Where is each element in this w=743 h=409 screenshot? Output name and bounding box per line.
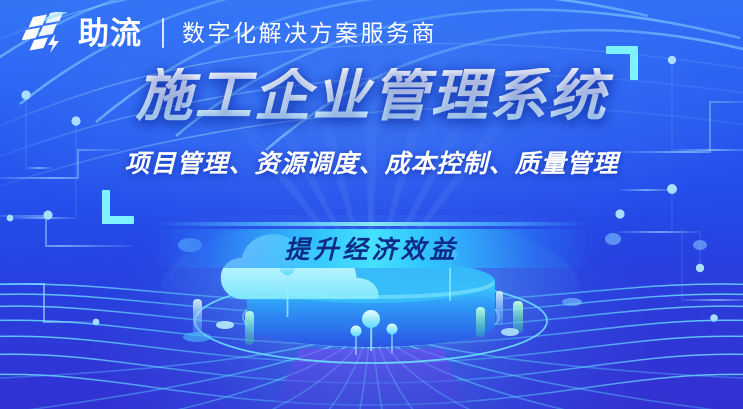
page-subtitle: 项目管理、资源调度、成本控制、质量管理 (0, 152, 743, 177)
brand-header: 助流 数字化解决方案服务商 (22, 8, 437, 58)
platform-light-pool (272, 349, 470, 409)
logo-icon[interactable] (22, 12, 68, 54)
header-divider (162, 18, 164, 48)
tagline-top-rule (155, 222, 588, 226)
tagline-banner: 提升经济效益 (155, 222, 588, 268)
page-title: 施工企业管理系统 (0, 68, 743, 125)
promo-banner: 助流 数字化解决方案服务商 施工企业管理系统 项目管理、资源调度、成本控制、质量… (0, 0, 743, 409)
corner-bracket-bottom-left-icon (102, 190, 134, 224)
brand-slogan: 数字化解决方案服务商 (182, 22, 437, 45)
tagline-text: 提升经济效益 (155, 231, 588, 265)
brand-name: 助流 (78, 18, 142, 49)
